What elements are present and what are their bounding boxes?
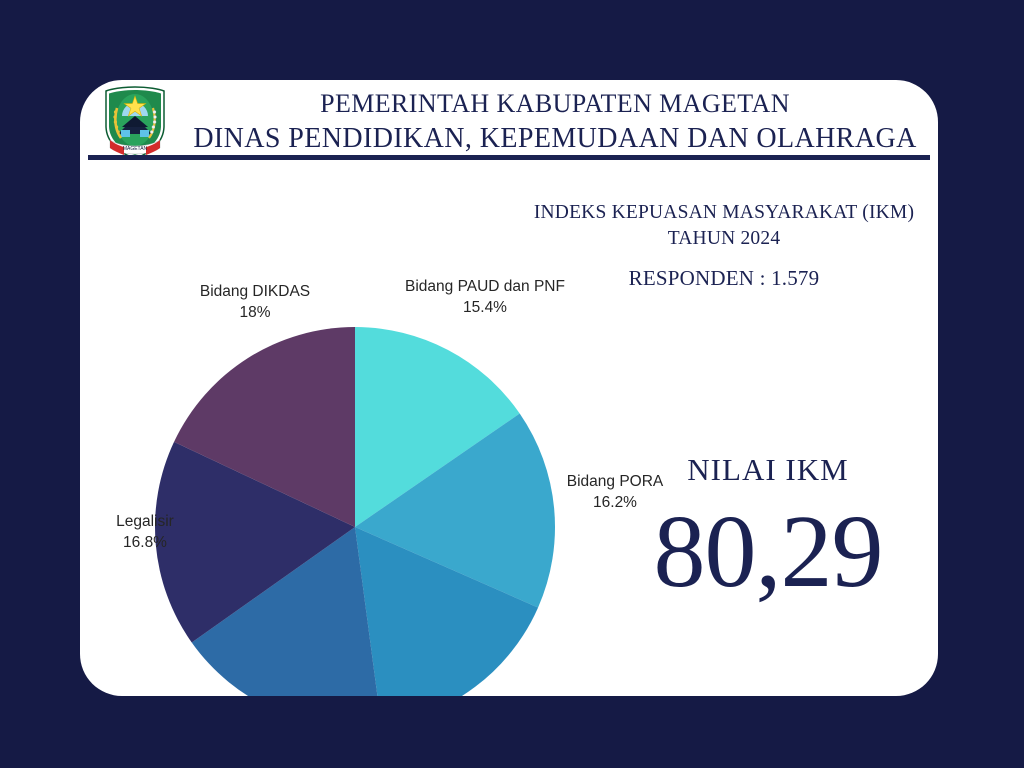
pie-svg (80, 166, 580, 696)
ikm-title: INDEKS KEPUASAN MASYARAKAT (IKM) (510, 200, 938, 226)
pie-slice-label: Bidang DIKDAS18% (160, 281, 350, 323)
ikm-pie-chart: Bidang PAUD dan PNF15.4%Bidang PORA16.2%… (80, 166, 580, 696)
magetan-coat-of-arms-icon: MAGETAN (102, 86, 168, 160)
ikm-score-block: NILAI IKM 80,29 (578, 450, 938, 608)
ikm-score-value: 80,29 (578, 496, 938, 608)
info-card: MAGETAN PEMERINTAH KABUPATEN MAGETAN DIN… (80, 80, 938, 696)
card-header: MAGETAN PEMERINTAH KABUPATEN MAGETAN DIN… (80, 80, 938, 162)
pie-slice-percent: 16.8% (80, 532, 220, 553)
header-title-block: PEMERINTAH KABUPATEN MAGETAN DINAS PENDI… (180, 87, 930, 157)
pie-slice-name: Bidang DIKDAS (200, 283, 310, 300)
pie-slice-percent: 18% (160, 302, 350, 323)
ikm-summary-panel: INDEKS KEPUASAN MASYARAKAT (IKM) TAHUN 2… (510, 200, 938, 292)
government-name: PEMERINTAH KABUPATEN MAGETAN (180, 87, 930, 121)
header-divider (88, 155, 930, 160)
ikm-year: TAHUN 2024 (510, 226, 938, 252)
svg-text:MAGETAN: MAGETAN (123, 146, 148, 152)
ikm-score-label: NILAI IKM (578, 450, 938, 490)
department-name: DINAS PENDIDIKAN, KEPEMUDAAN DAN OLAHRAG… (180, 121, 930, 157)
pie-slice-label: Legalisir16.8% (80, 511, 220, 553)
pie-slice-percent: 15.4% (390, 297, 580, 318)
pie-slice-name: Legalisir (116, 513, 174, 530)
respondent-count: RESPONDEN : 1.579 (510, 264, 938, 292)
